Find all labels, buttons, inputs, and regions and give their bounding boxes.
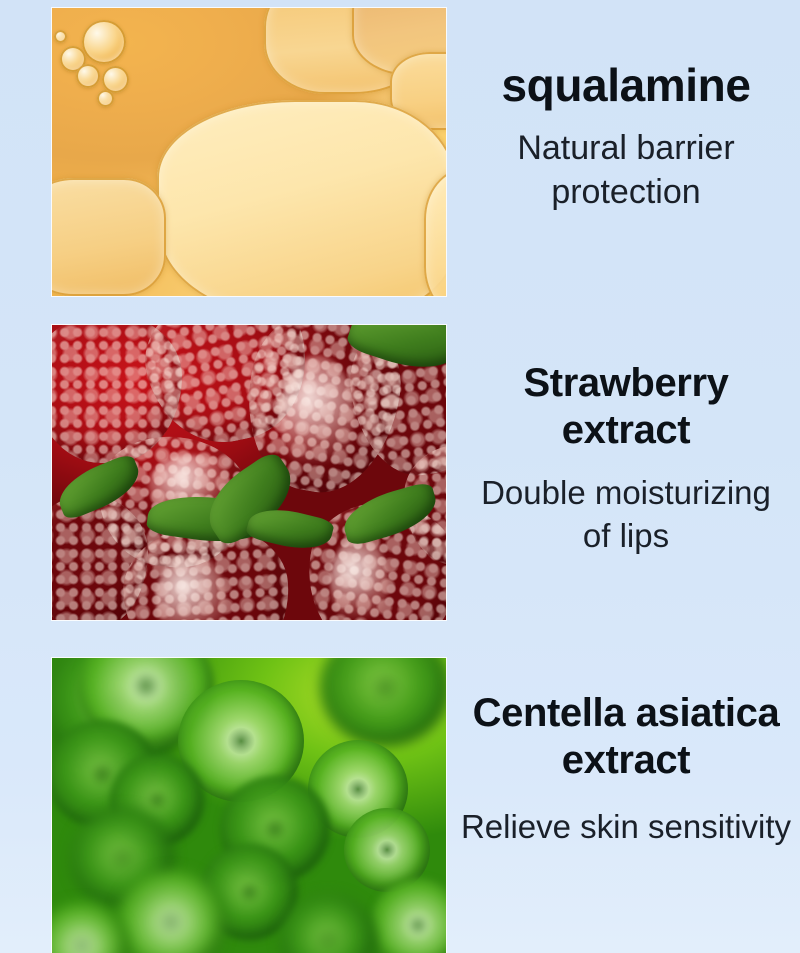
- oil-bubble: [54, 30, 67, 43]
- strawberries-photo: [52, 325, 446, 620]
- ingredient-benefit: Natural barrier protection: [452, 126, 800, 214]
- berry-highlight: [280, 355, 354, 475]
- benefit-line: of lips: [583, 517, 669, 554]
- ingredient-benefit: Relieve skin sensitivity: [452, 806, 800, 849]
- heading-line: extract: [562, 738, 690, 782]
- oil-bubble: [102, 66, 129, 93]
- centella-leaves-photo: [52, 658, 446, 953]
- oil-bubble: [76, 64, 100, 88]
- ingredient-text-squalamine: squalamine Natural barrier protection: [452, 58, 800, 215]
- heading-line: extract: [562, 408, 690, 452]
- ingredient-heading: squalamine: [452, 58, 800, 112]
- benefit-line: protection: [551, 173, 700, 211]
- strawberry-photo-background: [52, 325, 446, 620]
- berry-highlight: [330, 537, 388, 620]
- benefit-line: Relieve skin sensitivity: [461, 808, 791, 845]
- oil-cell: [52, 178, 166, 296]
- benefit-line: Double moisturizing: [481, 474, 771, 511]
- benefit-line: Natural barrier: [517, 129, 734, 167]
- oil-cell: [157, 100, 446, 296]
- ingredient-infographic: squalamine Natural barrier protection St…: [0, 0, 800, 953]
- ingredient-heading: Centella asiatica extract: [452, 690, 800, 784]
- centella-photo-background: [52, 658, 446, 953]
- heading-line: Centella asiatica: [473, 691, 780, 735]
- oil-bubble: [82, 20, 126, 64]
- pennywort-leaf: [320, 658, 446, 746]
- ingredient-text-strawberry: Strawberry extract Double moisturizing o…: [452, 360, 800, 558]
- oil-bubble: [97, 90, 114, 107]
- ingredient-benefit: Double moisturizing of lips: [452, 472, 800, 558]
- heading-line: Strawberry: [524, 361, 729, 405]
- oil-bubbles-photo: [52, 8, 446, 296]
- ingredient-text-centella: Centella asiatica extract Relieve skin s…: [452, 690, 800, 849]
- ingredient-heading: Strawberry extract: [452, 360, 800, 454]
- oil-photo-background: [52, 8, 446, 296]
